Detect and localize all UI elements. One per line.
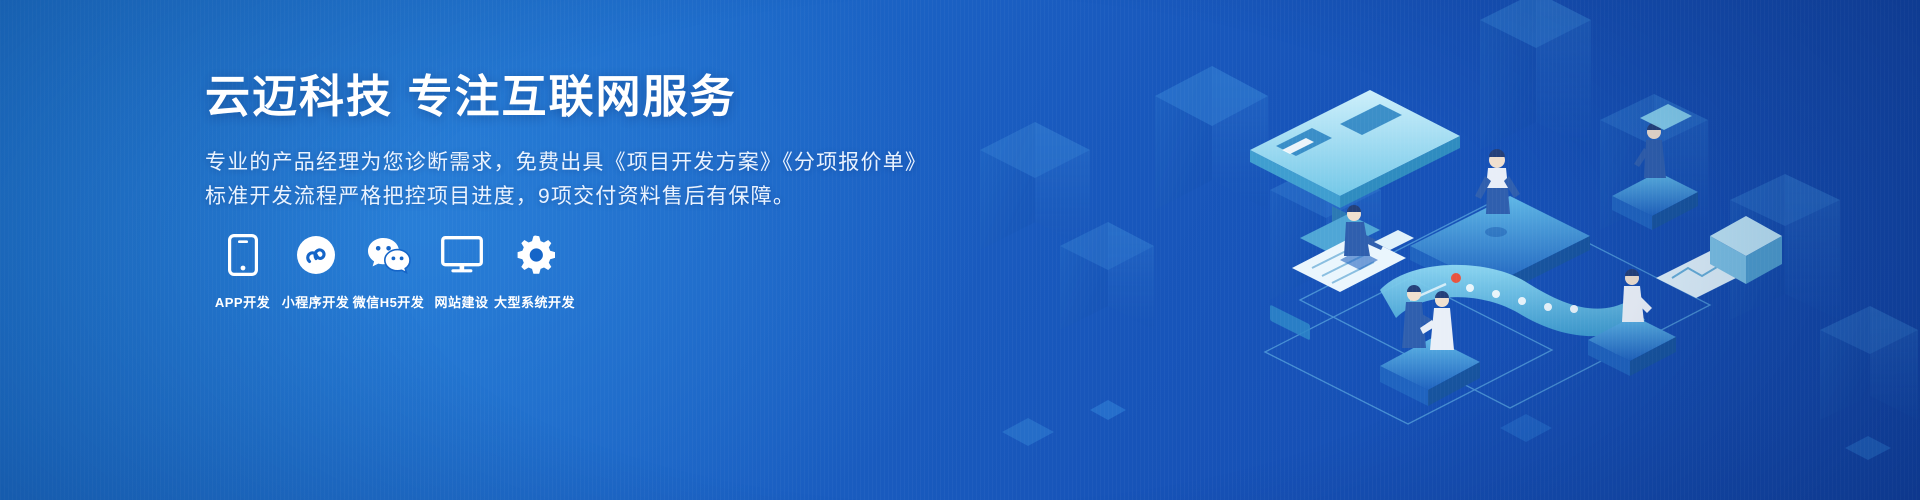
service-item-app[interactable]: APP开发	[206, 232, 279, 311]
page-title: 云迈科技 专注互联网服务	[205, 72, 965, 122]
mini-program-icon	[293, 232, 339, 278]
service-item-large-system[interactable]: 大型系统开发	[498, 232, 571, 311]
hero-banner: 云迈科技 专注互联网服务 专业的产品经理为您诊断需求，免费出具《项目开发方案》《…	[0, 0, 1920, 500]
hero-subtitle: 专业的产品经理为您诊断需求，免费出具《项目开发方案》《分项报价单》 标准开发流程…	[205, 146, 965, 214]
gear-icon	[512, 232, 558, 278]
service-item-mini-program[interactable]: 小程序开发	[279, 232, 352, 311]
service-label: APP开发	[215, 292, 270, 311]
wechat-icon	[366, 232, 412, 278]
service-label: 大型系统开发	[494, 292, 575, 311]
subtitle-line-2: 标准开发流程严格把控项目进度，9项交付资料售后有保障。	[205, 180, 965, 214]
service-list: APP开发 小程序开发	[206, 232, 571, 311]
isometric-illustration	[940, 0, 1920, 500]
subtitle-line-1: 专业的产品经理为您诊断需求，免费出具《项目开发方案》《分项报价单》	[205, 146, 965, 180]
service-label: 小程序开发	[282, 292, 350, 311]
mobile-phone-icon	[220, 232, 266, 278]
hero-copy: 云迈科技 专注互联网服务 专业的产品经理为您诊断需求，免费出具《项目开发方案》《…	[205, 72, 965, 214]
service-label: 微信H5开发	[353, 292, 425, 311]
service-label: 网站建设	[434, 292, 488, 311]
service-item-wechat-h5[interactable]: 微信H5开发	[352, 232, 425, 311]
monitor-icon	[439, 232, 485, 278]
service-item-website[interactable]: 网站建设	[425, 232, 498, 311]
